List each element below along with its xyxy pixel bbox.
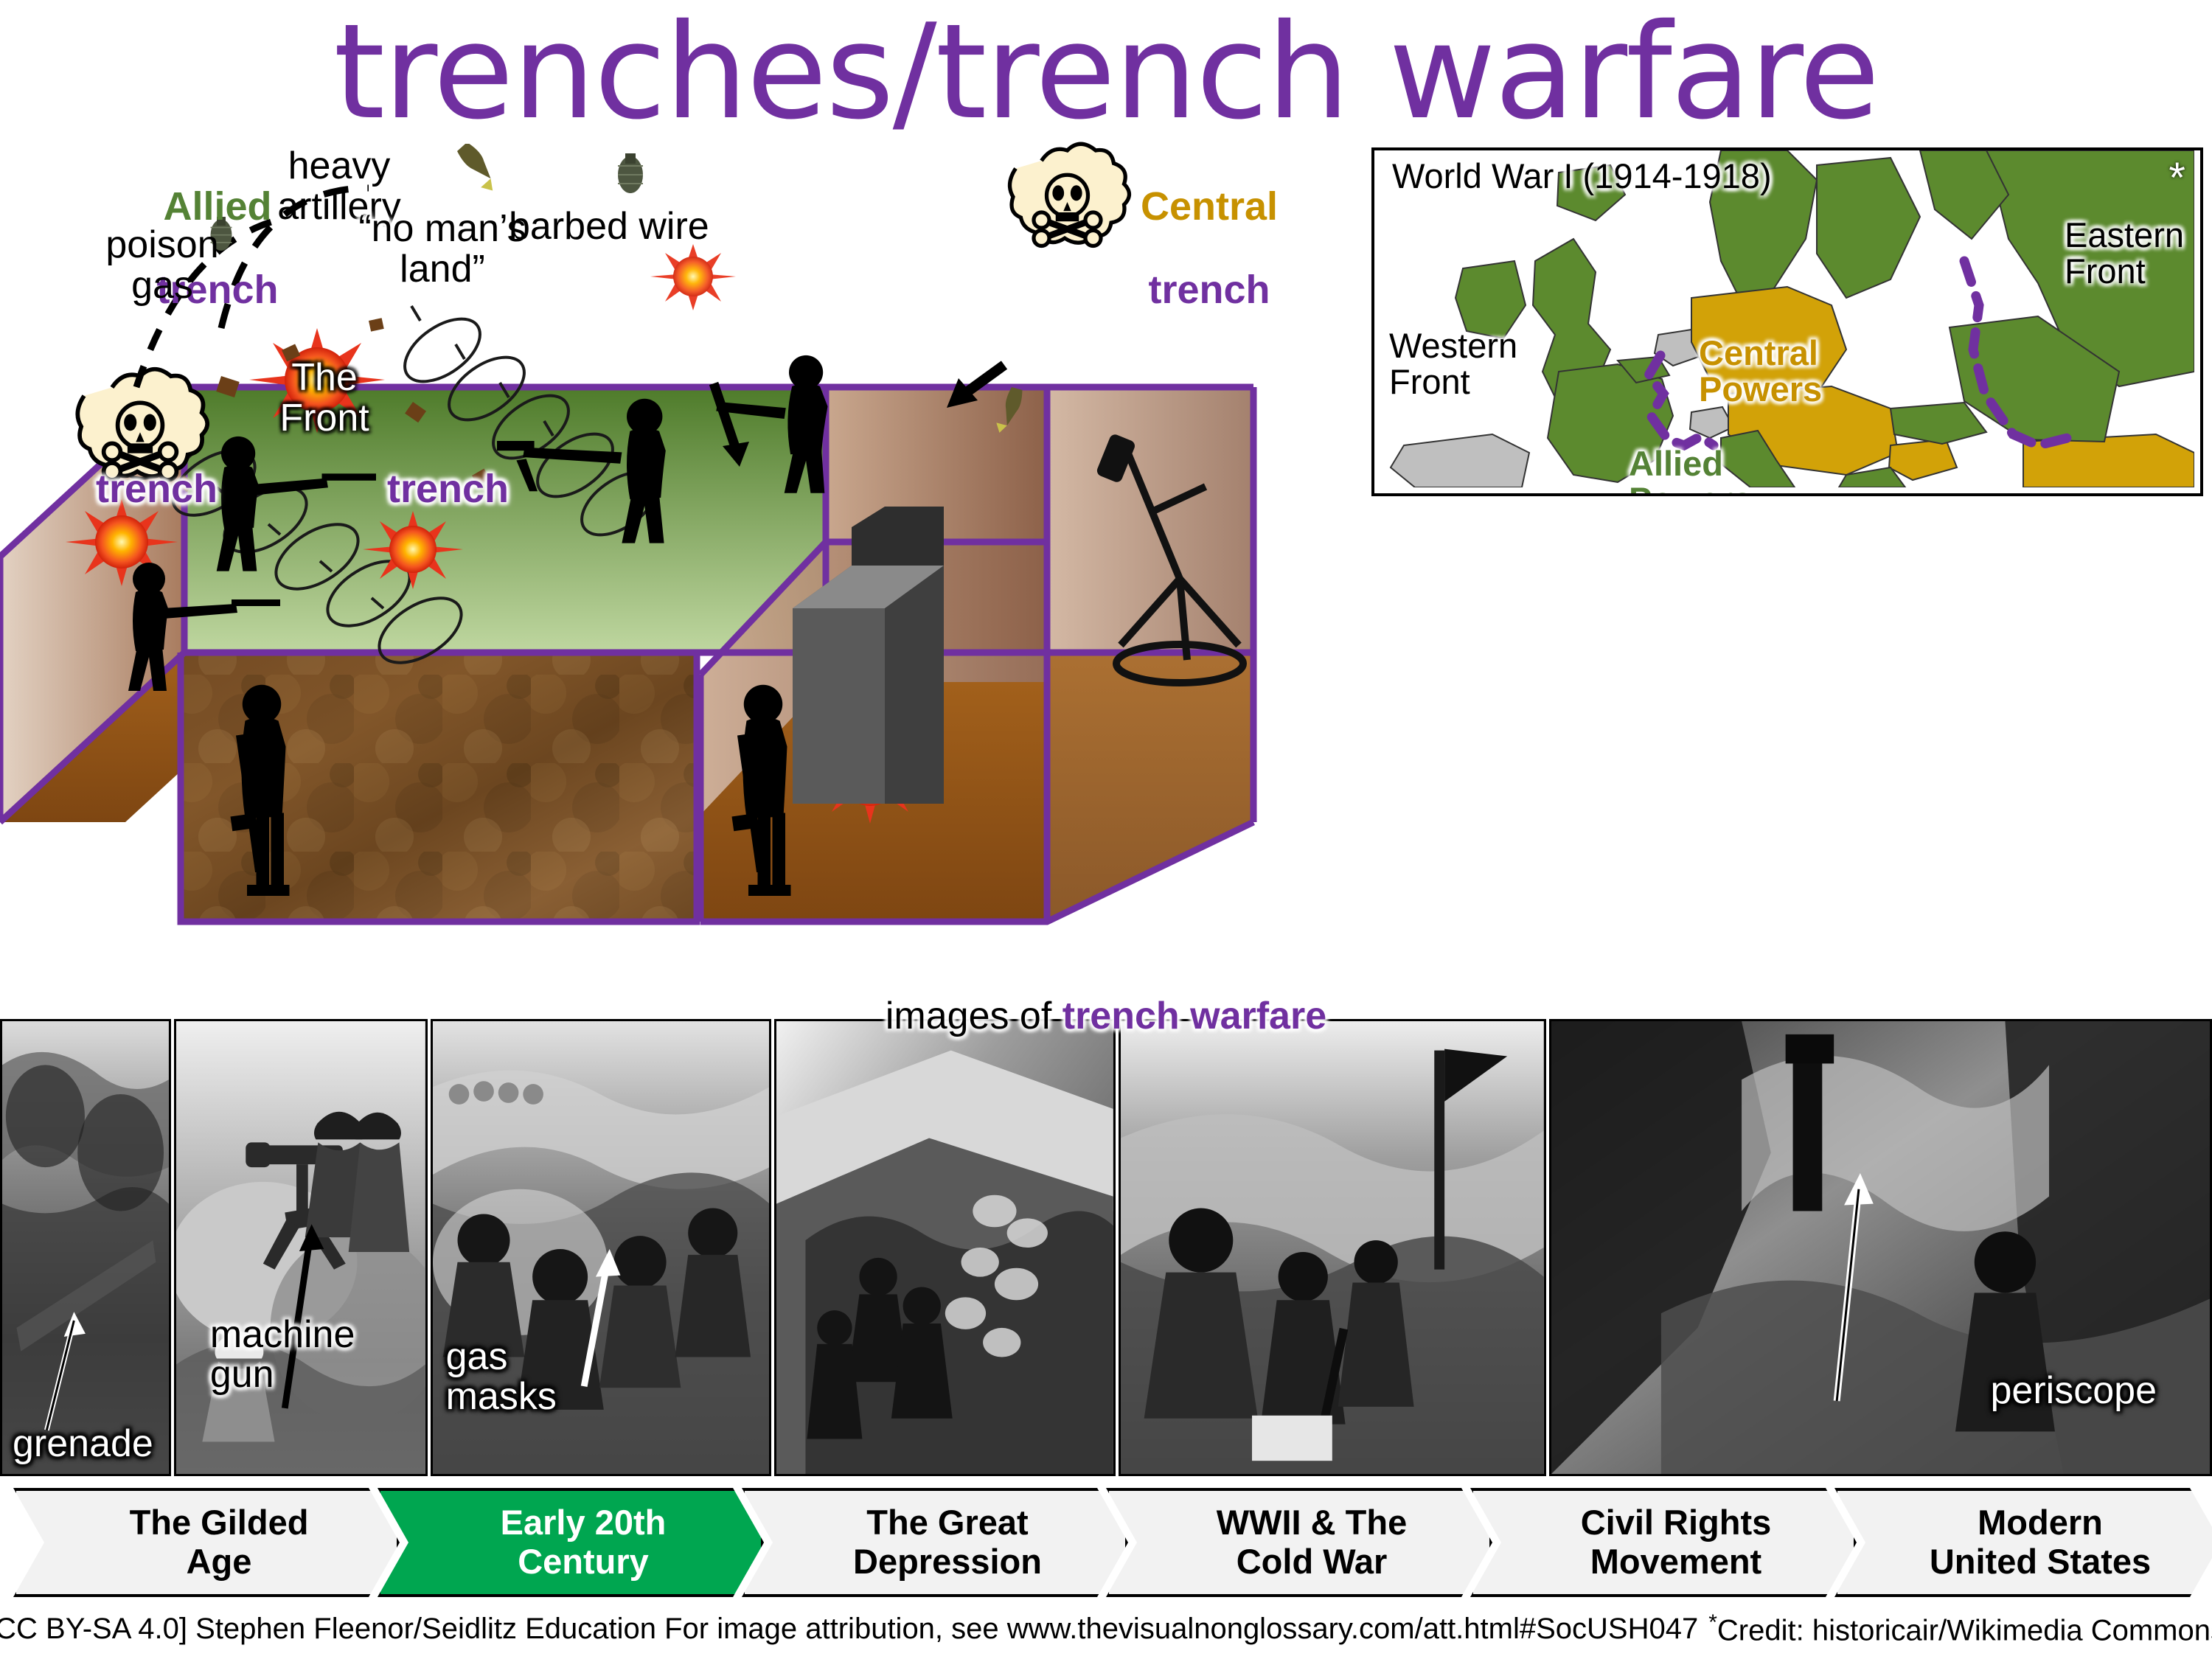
- no-mans-land-arrow-icon: [714, 383, 749, 467]
- artillery-shell-icon-right: [994, 386, 1024, 436]
- photo-grenade-image: [2, 1021, 169, 1474]
- photo-machine-gun: machine gun: [174, 1019, 428, 1476]
- timeline-item-early-20th-century[interactable]: Early 20th Century: [378, 1488, 764, 1597]
- map-label-eastern-front: Eastern Front: [2065, 217, 2184, 290]
- photo-caption-machine-gun: machine gun: [210, 1315, 425, 1394]
- grenade-icon-air: [618, 153, 643, 193]
- photo-trench-line-2: [1119, 1019, 1546, 1476]
- label-poison-gas: poison gas: [70, 225, 254, 305]
- photo-periscope: periscope: [1549, 1019, 2212, 1476]
- timeline-item-modern-us[interactable]: Modern United States: [1834, 1488, 2212, 1597]
- map-asterisk: *: [2168, 153, 2185, 203]
- photo-trench-line-1: [774, 1019, 1116, 1476]
- photo-caption-gas-masks: gas masks: [446, 1337, 557, 1416]
- artillery-shell-icon: [452, 144, 504, 195]
- timeline-item-great-depression[interactable]: The Great Depression: [742, 1488, 1128, 1597]
- photo-machine-gun-image: [176, 1021, 425, 1474]
- photo-strip-caption: images of trench warfare: [0, 994, 2212, 1038]
- photo-strip: grenade: [0, 1019, 2212, 1476]
- map-label-allied-powers: Allied Powers: [1629, 445, 1752, 496]
- timeline-item-civil-rights[interactable]: Civil Rights Movement: [1470, 1488, 1857, 1597]
- trench-diagram: Allied trench Central trench heavy artil…: [0, 144, 1357, 992]
- photo-caption-periscope: periscope: [1991, 1371, 2157, 1411]
- label-trench-word-2: trench: [1099, 269, 1320, 311]
- map-graphic: [1374, 150, 2194, 487]
- timeline-item-wwii-cold-war[interactable]: WWII & The Cold War: [1106, 1488, 1492, 1597]
- world-war-one-map: World War I (1914-1918) * Eastern Front …: [1371, 147, 2203, 496]
- footer-license: [CC BY-SA 4.0] Stephen Fleenor/Seidlitz …: [0, 1613, 1698, 1646]
- photo-caption-grenade: grenade: [13, 1424, 153, 1464]
- footer-credit-text: Credit: historicair/Wikimedia Commons: [1717, 1614, 2212, 1646]
- label-trench-right: trench: [387, 468, 509, 510]
- label-barbed-wire: barbed wire: [509, 206, 774, 247]
- photo-trench-line-1-image: [776, 1021, 1113, 1474]
- label-central-trench: Central trench: [1099, 144, 1320, 352]
- footer-credit: *Credit: historicair/Wikimedia Commons: [1708, 1610, 2212, 1647]
- footer-attribution: [CC BY-SA 4.0] Stephen Fleenor/Seidlitz …: [0, 1607, 2212, 1650]
- photo-gas-masks: gas masks: [431, 1019, 772, 1476]
- label-the-front: The Front: [243, 358, 406, 438]
- map-title: World War I (1914-1918): [1392, 158, 1772, 194]
- caption-highlight: trench warfare: [1062, 995, 1326, 1037]
- label-trench-left: trench: [96, 468, 218, 510]
- timeline-item-gilded-age[interactable]: The Gilded Age: [13, 1488, 400, 1597]
- map-label-central-powers: Central Powers: [1699, 335, 1822, 408]
- page-title: trenches/trench warfare: [0, 13, 2212, 131]
- photo-grenade: grenade: [0, 1019, 171, 1476]
- barbed-wire-arrow-icon: [947, 365, 1004, 408]
- footer-credit-marker: *: [1708, 1610, 1717, 1635]
- caption-plain: images of: [886, 995, 1062, 1037]
- map-label-western-front: Western Front: [1389, 327, 1517, 400]
- era-timeline: The Gilded Age Early 20th Century The Gr…: [13, 1488, 2199, 1597]
- photo-trench-line-2-image: [1121, 1021, 1544, 1474]
- label-central-word: Central: [1099, 186, 1320, 228]
